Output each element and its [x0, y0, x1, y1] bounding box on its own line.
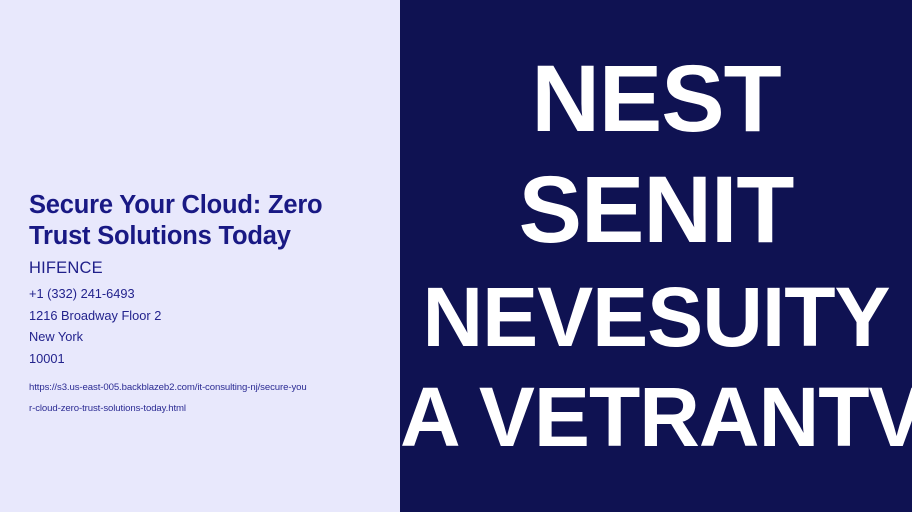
postal-code: 10001 [29, 348, 390, 370]
source-url-line-1[interactable]: https://s3.us-east-005.backblazeb2.com/i… [29, 377, 390, 398]
source-url-line-2[interactable]: r-cloud-zero-trust-solutions-today.html [29, 398, 390, 419]
poster-text-block: NEST SENIT NEVESUITY A VETRANTVT [400, 0, 912, 512]
info-panel: Secure Your Cloud: Zero Trust Solutions … [0, 0, 400, 512]
poster-line-3: NEVESUITY [400, 275, 912, 361]
info-block: Secure Your Cloud: Zero Trust Solutions … [29, 190, 390, 419]
promo-card: Secure Your Cloud: Zero Trust Solutions … [0, 0, 912, 512]
street-address: 1216 Broadway Floor 2 [29, 305, 390, 327]
phone-number[interactable]: +1 (332) 241-6493 [29, 283, 390, 305]
brand-name: HIFENCE [29, 258, 390, 279]
source-url[interactable]: https://s3.us-east-005.backblazeb2.com/i… [29, 377, 390, 419]
poster-line-1: NEST [531, 51, 780, 148]
poster-panel: NEST SENIT NEVESUITY A VETRANTVT [400, 0, 912, 512]
city-name: New York [29, 326, 390, 348]
poster-line-2: SENIT [519, 162, 794, 259]
page-title: Secure Your Cloud: Zero Trust Solutions … [29, 190, 389, 252]
poster-line-4: A VETRANTVT [400, 375, 912, 461]
